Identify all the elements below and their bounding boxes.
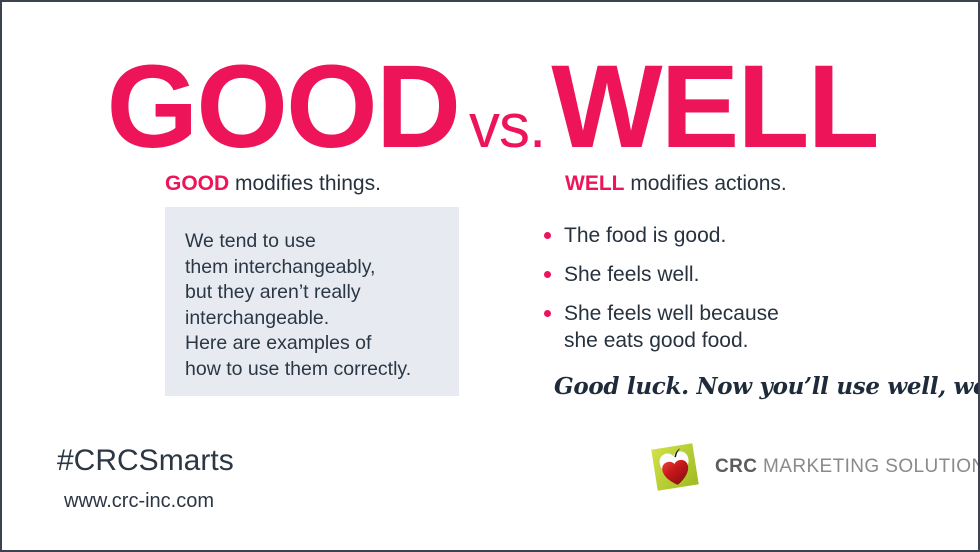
- example-list: The food is good. She feels well. She fe…: [542, 222, 942, 366]
- intro-line: interchangeable.: [185, 306, 459, 332]
- apple-square-icon: [647, 439, 703, 495]
- intro-line: them interchangeably,: [185, 255, 459, 281]
- headline: GOODvs.WELL: [2, 48, 980, 166]
- website-url: www.crc-inc.com: [64, 490, 214, 513]
- subline-well-keyword: WELL: [565, 172, 624, 195]
- hashtag: #CRCSmarts: [57, 444, 234, 478]
- headline-connector-vs: vs.: [459, 92, 551, 161]
- list-item-text-line2: she eats good food.: [564, 327, 942, 354]
- intro-line: We tend to use: [185, 229, 459, 255]
- list-item-text: She feels well because: [564, 302, 779, 325]
- headline-word-well: WELL: [551, 41, 877, 173]
- intro-line: Here are examples of: [185, 331, 459, 357]
- list-item: She feels well because she eats good foo…: [542, 300, 942, 354]
- bullet-dot-icon: [544, 271, 551, 278]
- headline-word-good: GOOD: [106, 41, 459, 173]
- brand-name-rest: MARKETING SOLUTIONS: [757, 456, 980, 477]
- infographic-canvas: GOODvs.WELL GOOD modifies things. WELL m…: [0, 0, 980, 552]
- subline-good: GOOD modifies things.: [165, 172, 381, 196]
- brand-name-crc: CRC: [715, 456, 757, 477]
- intro-line: how to use them correctly.: [185, 357, 459, 383]
- brand-logo-text: CRC MARKETING SOLUTIONS: [715, 456, 980, 478]
- subline-well: WELL modifies actions.: [565, 172, 787, 196]
- intro-line: but they aren’t really: [185, 280, 459, 306]
- subline-good-text: modifies things.: [229, 172, 381, 195]
- list-item-text: She feels well.: [564, 263, 699, 286]
- brand-logo: CRC MARKETING SOLUTIONS: [647, 439, 980, 495]
- intro-text-box: We tend to use them interchangeably, but…: [165, 207, 459, 396]
- closing-script-line: Good luck. Now you’ll use well, well.: [554, 373, 980, 400]
- list-item-text: The food is good.: [564, 224, 726, 247]
- bullet-dot-icon: [544, 232, 551, 239]
- list-item: She feels well.: [542, 261, 942, 288]
- list-item: The food is good.: [542, 222, 942, 249]
- subline-well-text: modifies actions.: [624, 172, 786, 195]
- subline-good-keyword: GOOD: [165, 172, 229, 195]
- bullet-dot-icon: [544, 310, 551, 317]
